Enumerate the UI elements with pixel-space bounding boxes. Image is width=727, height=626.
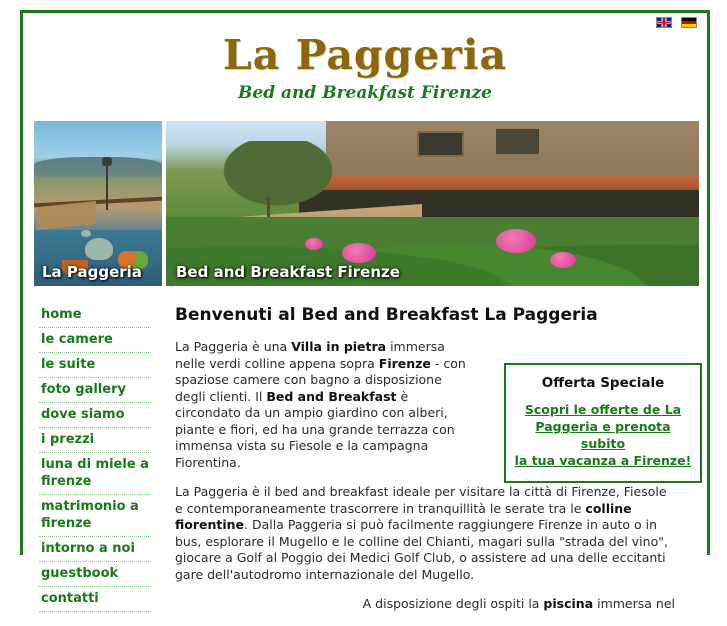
page-frame: La Paggeria Bed and Breakfast Firenze La… — [20, 10, 710, 555]
sidebar-nav: home le camere le suite foto gallery dov… — [39, 303, 151, 612]
banner-photo-house: Bed and Breakfast Firenze — [166, 121, 699, 286]
page-title: Benvenuti al Bed and Breakfast La Pagger… — [175, 305, 695, 325]
sidebar-item-home[interactable]: home — [39, 303, 151, 328]
p1-t1: La Paggeria è una — [175, 339, 291, 354]
p1-b2: Firenze — [379, 356, 431, 371]
sidebar-item-dove-siamo[interactable]: dove siamo — [39, 403, 151, 428]
banner-photo-terrace: La Paggeria — [34, 121, 162, 286]
offer-link-line1[interactable]: Scopri le offerte de La — [514, 401, 692, 418]
intro-paragraph: La Paggeria è una Villa in pietra immers… — [175, 339, 475, 471]
p1-b1: Villa in pietra — [291, 339, 386, 354]
banner-caption-left: La Paggeria — [42, 263, 142, 281]
p3-b1: piscina — [543, 596, 593, 611]
flag-de-icon[interactable] — [681, 17, 697, 28]
p3-t2: immersa nel — [593, 596, 675, 611]
sidebar-item-luna-di-miele[interactable]: luna di miele a firenze — [39, 453, 151, 495]
pool-paragraph: A disposizione degli ospiti la piscina i… — [175, 596, 675, 613]
banner-strip: La Paggeria Bed and Breakfast Firenze — [34, 121, 699, 286]
sidebar-item-contatti[interactable]: contatti — [39, 587, 151, 612]
site-header: La Paggeria Bed and Breakfast Firenze — [23, 31, 707, 103]
offer-link-line3[interactable]: la tua vacanza a Firenze! — [514, 452, 692, 469]
site-title: La Paggeria — [23, 31, 707, 79]
sidebar-item-le-camere[interactable]: le camere — [39, 328, 151, 353]
language-flags — [656, 17, 697, 28]
special-offer-box: Offerta Speciale Scopri le offerte de La… — [504, 363, 702, 483]
terrace-photo-art — [34, 121, 162, 286]
p3-t1: A disposizione degli ospiti la — [363, 596, 544, 611]
offer-link-line2[interactable]: Paggeria e prenota subito — [514, 418, 692, 452]
sidebar-item-foto-gallery[interactable]: foto gallery — [39, 378, 151, 403]
sidebar-item-i-prezzi[interactable]: i prezzi — [39, 428, 151, 453]
flag-en-icon[interactable] — [656, 17, 672, 28]
banner-caption-right: Bed and Breakfast Firenze — [176, 263, 400, 281]
site-subtitle: Bed and Breakfast Firenze — [23, 83, 707, 103]
sidebar-item-le-suite[interactable]: le suite — [39, 353, 151, 378]
sidebar-item-matrimonio[interactable]: matrimonio a firenze — [39, 495, 151, 537]
p1-b3: Bed and Breakfast — [266, 389, 396, 404]
offer-title: Offerta Speciale — [514, 375, 692, 391]
description-paragraph: La Paggeria è il bed and breakfast ideal… — [175, 484, 675, 583]
p2-t2: . Dalla Paggeria si può facilmente raggi… — [175, 517, 668, 582]
sidebar-item-intorno-a-noi[interactable]: intorno a noi — [39, 537, 151, 562]
house-photo-art — [166, 121, 699, 286]
main-content: Benvenuti al Bed and Breakfast La Pagger… — [175, 305, 695, 626]
sidebar-item-guestbook[interactable]: guestbook — [39, 562, 151, 587]
